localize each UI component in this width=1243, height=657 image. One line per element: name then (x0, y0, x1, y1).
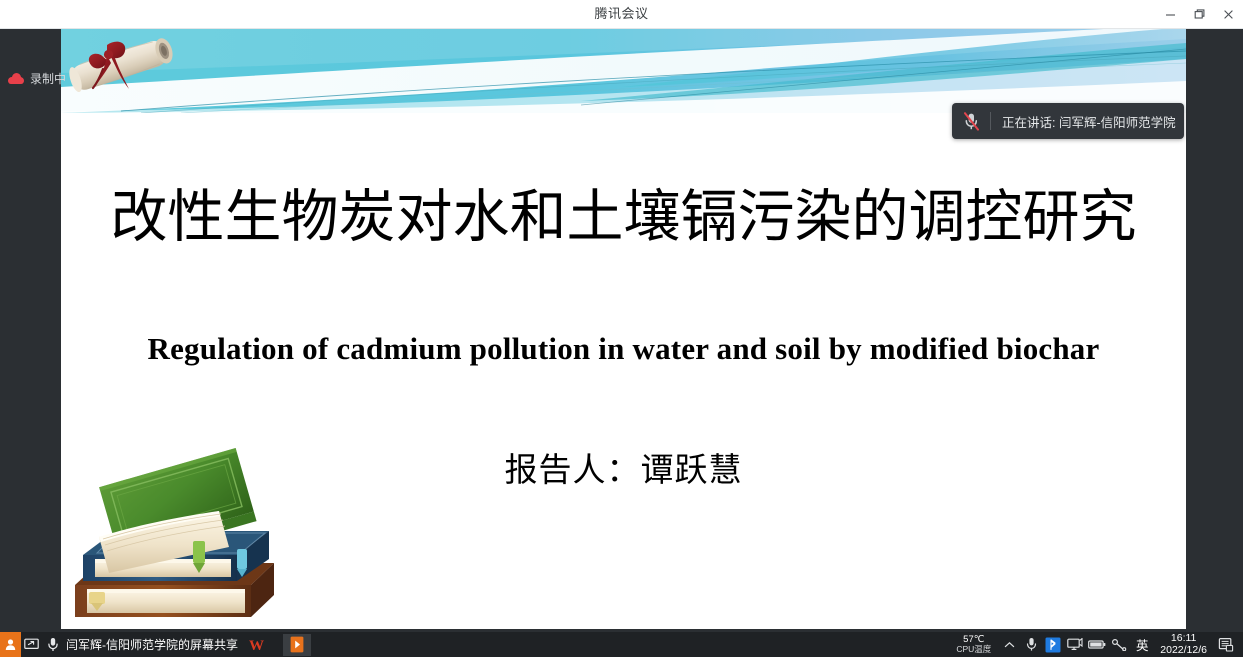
diploma-scroll-icon (63, 27, 185, 105)
speaking-label: 正在讲话: 闫军辉-信阳师范学院 (991, 112, 1176, 131)
user-glyph (4, 638, 17, 651)
network-glyph (1067, 638, 1083, 652)
slide-title-chinese: 改性生物炭对水和土壤镉污染的调控研究 (61, 185, 1186, 251)
ime-indicator[interactable]: 英 (1130, 635, 1154, 654)
chevron-up-glyph (1004, 641, 1015, 649)
wps-icon[interactable]: W (243, 632, 269, 657)
recording-indicator[interactable]: 录制中 (8, 70, 66, 87)
notification-glyph (1218, 637, 1234, 652)
minimize-icon (1164, 8, 1177, 21)
user-icon[interactable] (0, 632, 21, 657)
minimize-button[interactable] (1156, 0, 1185, 28)
battery-icon[interactable] (1086, 632, 1108, 657)
settings-link-glyph (1111, 638, 1128, 651)
chevron-up-icon[interactable] (998, 632, 1020, 657)
microphone-tray-icon[interactable] (1020, 632, 1042, 657)
close-button[interactable] (1214, 0, 1243, 28)
taskbar-left-group: 闫军辉-信阳师范学院的屏幕共享 W (0, 632, 311, 657)
restore-button[interactable] (1185, 0, 1214, 28)
microphone-tray-glyph (1026, 637, 1037, 652)
notification-icon[interactable] (1213, 632, 1239, 657)
stacked-books-graphic (69, 435, 299, 629)
clock-date: 2022/12/6 (1160, 645, 1207, 657)
microphone-icon[interactable] (42, 632, 63, 657)
bluetooth-icon[interactable] (1042, 632, 1064, 657)
banner-waves-icon (61, 25, 1186, 113)
microphone-glyph (47, 637, 59, 652)
clock[interactable]: 16:11 2022/12/6 (1160, 633, 1207, 656)
stacked-books-icon (69, 435, 299, 629)
recording-label: 录制中 (30, 70, 66, 87)
speaking-badge[interactable]: 正在讲话: 闫军辉-信阳师范学院 (952, 103, 1184, 139)
bluetooth-glyph (1045, 637, 1061, 653)
system-tray: 57℃ CPU温度 (956, 632, 1243, 657)
window-title-bar: 腾讯会议 (0, 0, 1243, 29)
close-icon (1222, 8, 1235, 21)
network-icon[interactable] (1064, 632, 1086, 657)
slide-banner (61, 25, 1186, 113)
powerpoint-icon[interactable] (283, 634, 311, 656)
svg-text:W: W (249, 638, 264, 653)
cloud-record-icon (8, 73, 24, 84)
taskbar: 闫军辉-信阳师范学院的屏幕共享 W 57℃ CPU温度 (0, 632, 1243, 657)
clock-time: 16:11 (1160, 633, 1207, 645)
screen-share-icon[interactable] (21, 632, 42, 657)
microphone-muted-glyph (963, 112, 980, 131)
cpu-temp-label: CPU温度 (956, 645, 991, 654)
battery-glyph (1088, 639, 1106, 650)
taskbar-sharing-label: 闫军辉-信阳师范学院的屏幕共享 (66, 636, 238, 653)
window-title: 腾讯会议 (0, 0, 1243, 28)
cpu-temperature-indicator[interactable]: 57℃ CPU温度 (956, 635, 991, 654)
microphone-muted-icon (952, 112, 990, 131)
slide-title-english: Regulation of cadmium pollution in water… (61, 331, 1186, 367)
screen-share-glyph (24, 638, 39, 651)
restore-icon (1193, 8, 1206, 21)
settings-link-icon[interactable] (1108, 632, 1130, 657)
diploma-scroll-graphic (63, 27, 185, 105)
powerpoint-glyph (290, 636, 304, 653)
wps-glyph: W (247, 636, 266, 653)
